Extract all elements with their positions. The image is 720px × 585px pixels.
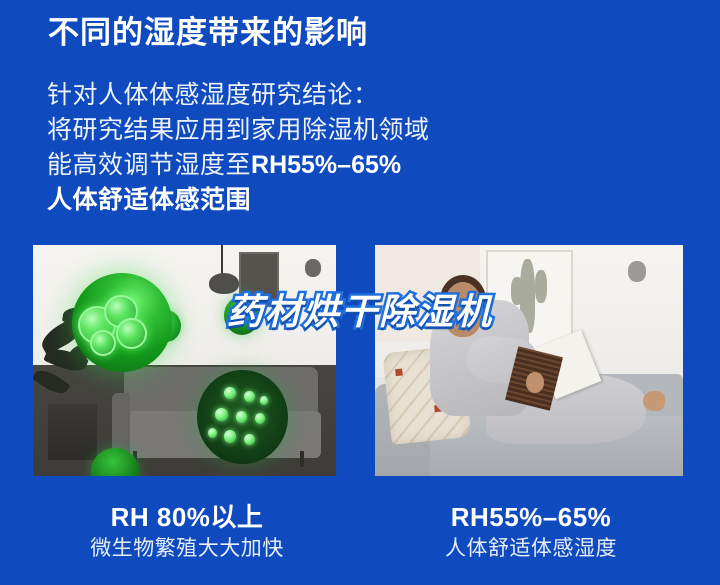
virus-spike bbox=[208, 428, 217, 437]
photo-left-high-humidity bbox=[33, 245, 336, 476]
caption-left-description: 微生物繁殖大大加快 bbox=[22, 534, 352, 564]
virus-spike bbox=[244, 434, 255, 445]
virus-spike bbox=[215, 408, 228, 421]
cactus-arm bbox=[511, 277, 523, 305]
caption-right-description: 人体舒适体感湿度 bbox=[366, 534, 696, 564]
page-title: 不同的湿度带来的影响 bbox=[48, 16, 368, 50]
virus-spike bbox=[224, 387, 236, 399]
person-foot bbox=[643, 391, 665, 412]
person-hair-bun bbox=[434, 300, 456, 323]
caption-right-value: RH55%–65% bbox=[366, 500, 696, 534]
infographic-page: 不同的湿度带来的影响 针对人体体感湿度研究结论： 将研究结果应用到家用除湿机领域… bbox=[0, 0, 720, 585]
intro-line-2: 将研究结果应用到家用除湿机领域 bbox=[47, 113, 667, 148]
caption-left: RH 80%以上 微生物繁殖大大加快 bbox=[22, 500, 352, 564]
caption-left-value: RH 80%以上 bbox=[22, 500, 352, 534]
microbe-molecule bbox=[90, 330, 116, 356]
intro-line-4: 人体舒适体感范围 bbox=[47, 183, 667, 218]
intro-line-3-value: RH55%–65% bbox=[251, 151, 401, 179]
wall-knob-icon bbox=[305, 259, 321, 277]
cushion-motif bbox=[396, 368, 404, 376]
dark-room-scene bbox=[33, 245, 336, 476]
virus-spike bbox=[260, 396, 268, 405]
virus-spike bbox=[244, 391, 255, 402]
microbe-cluster-large bbox=[72, 273, 172, 372]
intro-line-1: 针对人体体感湿度研究结论： bbox=[47, 78, 667, 113]
virus-spike bbox=[224, 430, 236, 442]
cactus-arm bbox=[535, 270, 547, 302]
intro-line-3: 能高效调节湿度至RH55%–65% bbox=[47, 148, 667, 183]
virus-spike bbox=[236, 411, 247, 422]
plant-pot-icon bbox=[48, 404, 96, 459]
microbe-small bbox=[224, 296, 260, 335]
microbe-virus-large bbox=[197, 370, 288, 465]
photo-right-comfort-humidity bbox=[375, 245, 683, 476]
virus-spike bbox=[255, 413, 265, 423]
bright-room-scene bbox=[375, 245, 683, 476]
lamp-shade-icon bbox=[209, 273, 239, 294]
caption-row: RH 80%以上 微生物繁殖大大加快 RH55%–65% 人体舒适体感湿度 bbox=[0, 500, 720, 585]
intro-paragraph: 针对人体体感湿度研究结论： 将研究结果应用到家用除湿机领域 能高效调节湿度至RH… bbox=[47, 78, 667, 218]
photo-row bbox=[0, 245, 720, 476]
dark-sofa-leg bbox=[300, 451, 304, 467]
caption-right: RH55%–65% 人体舒适体感湿度 bbox=[366, 500, 696, 564]
intro-line-3-prefix: 能高效调节湿度至 bbox=[47, 151, 251, 179]
microbe-molecule bbox=[116, 318, 147, 349]
person-hand bbox=[526, 372, 544, 393]
wall-knob-icon bbox=[628, 261, 646, 282]
